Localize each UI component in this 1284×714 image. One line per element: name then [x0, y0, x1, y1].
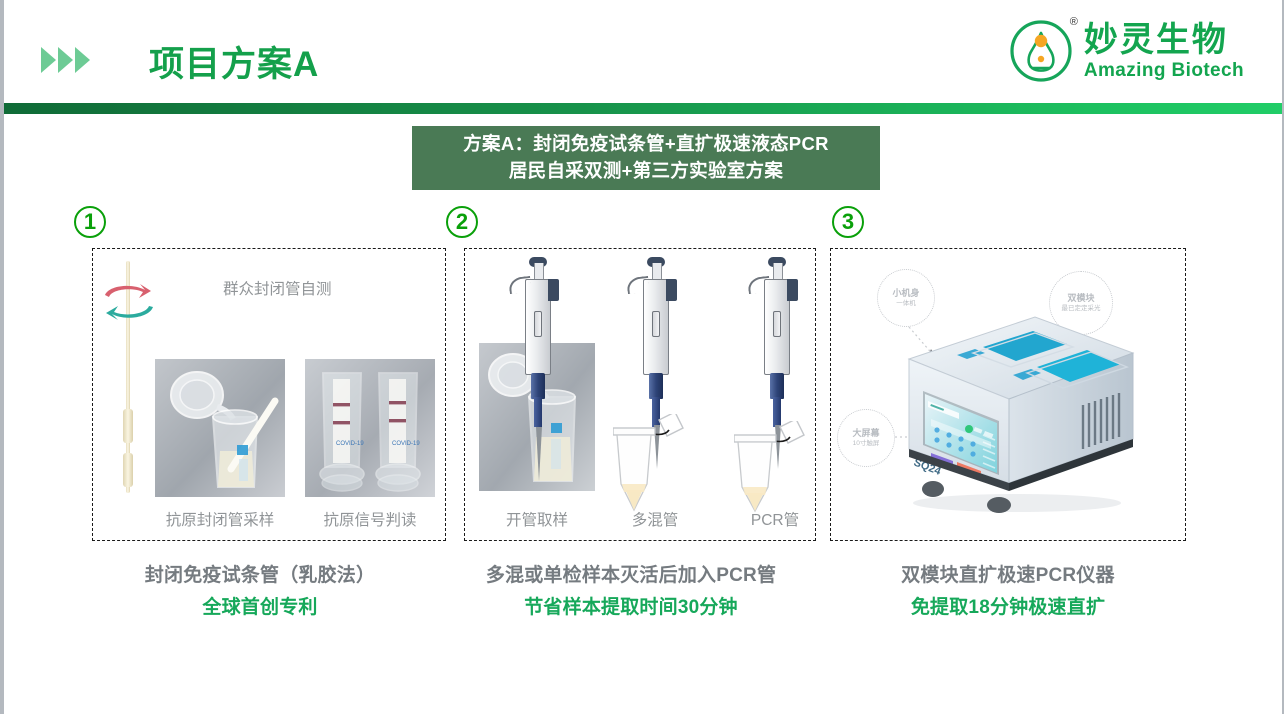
chevron-2-icon	[58, 47, 73, 73]
caption-2-sub: 节省样本提取时间30分钟	[442, 592, 820, 619]
dual-module-pcr-instrument-photo: SQ24	[887, 297, 1137, 497]
svg-text:COVID-19: COVID-19	[336, 441, 364, 447]
panel-3-dashed-frame: 小机身 一体机 双模块 最已定定采光 大屏幕 10寸触屏	[830, 248, 1186, 541]
header-divider-band	[4, 103, 1282, 114]
caption-block-2: 多混或单检样本灭活后加入PCR管 节省样本提取时间30分钟	[442, 560, 820, 619]
logo-name-cn: 妙灵生物	[1084, 23, 1244, 57]
workflow-panel-2: 2	[442, 206, 820, 541]
antigen-strip-tubes-photo: COVID-19 COVID-19	[305, 359, 435, 497]
panel-2-item-label-0: 开管取样	[479, 508, 595, 530]
step-number-3: 3	[832, 206, 864, 238]
caption-1-sub: 全球首创专利	[70, 592, 450, 619]
slide-header: 项目方案A ® 妙灵生物 Amazing Biotech	[4, 0, 1282, 103]
brand-logo: ® 妙灵生物 Amazing Biotech	[1008, 18, 1244, 84]
banner-line-1: 方案A：封闭免疫试条管+直扩极速液态PCR	[463, 131, 829, 158]
svg-text:COVID-19: COVID-19	[392, 441, 420, 447]
workflow-panel-1: 1 群众封闭管自测	[70, 206, 450, 541]
panel-2-item-label-1: 多混管	[595, 508, 715, 530]
slide-root: 项目方案A ® 妙灵生物 Amazing Biotech 方案A：封闭免疫试条管…	[0, 0, 1284, 714]
workflow-panels: 1 群众封闭管自测	[4, 206, 1282, 546]
triple-chevron-right-icon	[41, 47, 90, 73]
page-title: 项目方案A	[149, 36, 319, 87]
caption-2-main: 多混或单检样本灭活后加入PCR管	[442, 560, 820, 587]
caption-block-1: 封闭免疫试条管（乳胶法） 全球首创专利	[70, 560, 450, 619]
logo-name-en: Amazing Biotech	[1084, 61, 1244, 80]
panel-1-item-label-1: 抗原信号判读	[305, 508, 435, 530]
pipette-into-pcr-tube-icon	[734, 421, 780, 517]
caption-block-3: 双模块直扩极速PCR仪器 免提取18分钟极速直扩	[828, 560, 1188, 619]
panel-2-item-label-2: PCR管	[715, 508, 835, 530]
step-number-2: 2	[446, 206, 478, 238]
panel-2-dashed-frame: 开管取样 多混管 PCR管	[464, 248, 816, 541]
panel-1-dashed-frame: 群众封闭管自测	[92, 248, 446, 541]
caption-1-main: 封闭免疫试条管（乳胶法）	[70, 560, 450, 587]
pipette-into-pooling-tube-icon	[613, 414, 659, 510]
caption-3-main: 双模块直扩极速PCR仪器	[828, 560, 1188, 587]
workflow-panel-3: 3 小机身 一体机 双模块 最已定定采光 大屏幕 10寸触屏	[828, 206, 1188, 541]
registered-mark: ®	[1070, 16, 1078, 28]
step-number-1: 1	[74, 206, 106, 238]
caption-3-sub: 免提取18分钟极速直扩	[828, 592, 1188, 619]
pipette-icon-1	[507, 259, 569, 469]
sample-tube-with-swab-photo	[155, 359, 285, 497]
panel-1-note: 群众封闭管自测	[223, 277, 332, 299]
panel-1-item-label-0: 抗原封闭管采样	[155, 508, 285, 530]
scheme-banner: 方案A：封闭免疫试条管+直扩极速液态PCR 居民自采双测+第三方实验室方案	[412, 126, 880, 190]
panel-captions: 封闭免疫试条管（乳胶法） 全球首创专利 多混或单检样本灭活后加入PCR管 节省样…	[4, 560, 1282, 640]
chevron-3-icon	[75, 47, 90, 73]
chevron-1-icon	[41, 47, 56, 73]
rotate-arrows-icon	[99, 277, 159, 334]
flask-droplet-logo-icon: ®	[1008, 18, 1074, 84]
banner-line-2: 居民自采双测+第三方实验室方案	[509, 158, 783, 185]
